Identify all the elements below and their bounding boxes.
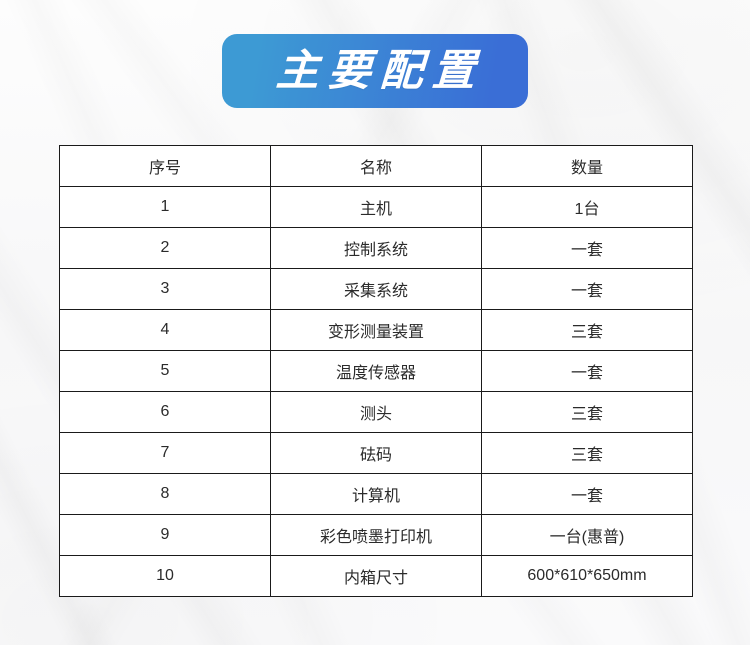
cell-index: 10 xyxy=(60,556,271,597)
cell-index: 2 xyxy=(60,228,271,269)
cell-quantity: 三套 xyxy=(482,310,693,351)
cell-name: 内箱尺寸 xyxy=(271,556,482,597)
table-row: 4 变形测量装置 三套 xyxy=(60,310,693,351)
table-header-row: 序号 名称 数量 xyxy=(60,146,693,187)
table-row: 5 温度传感器 一套 xyxy=(60,351,693,392)
table-header: 序号 名称 数量 xyxy=(60,146,693,187)
table-row: 9 彩色喷墨打印机 一台(惠普) xyxy=(60,515,693,556)
cell-index: 7 xyxy=(60,433,271,474)
table-row: 3 采集系统 一套 xyxy=(60,269,693,310)
section-title-banner: 主要配置 xyxy=(222,34,528,108)
table-body: 1 主机 1台 2 控制系统 一套 3 采集系统 一套 4 变形测量装置 三套 … xyxy=(60,187,693,597)
table-row: 2 控制系统 一套 xyxy=(60,228,693,269)
cell-index: 8 xyxy=(60,474,271,515)
cell-quantity: 三套 xyxy=(482,392,693,433)
cell-quantity: 一台(惠普) xyxy=(482,515,693,556)
cell-name: 控制系统 xyxy=(271,228,482,269)
cell-name: 彩色喷墨打印机 xyxy=(271,515,482,556)
cell-quantity: 一套 xyxy=(482,474,693,515)
table-row: 7 砝码 三套 xyxy=(60,433,693,474)
table-row: 10 内箱尺寸 600*610*650mm xyxy=(60,556,693,597)
cell-index: 1 xyxy=(60,187,271,228)
cell-quantity: 一套 xyxy=(482,228,693,269)
cell-quantity: 三套 xyxy=(482,433,693,474)
table-row: 6 测头 三套 xyxy=(60,392,693,433)
column-header-quantity: 数量 xyxy=(482,146,693,187)
cell-name: 测头 xyxy=(271,392,482,433)
cell-quantity: 600*610*650mm xyxy=(482,556,693,597)
cell-name: 计算机 xyxy=(271,474,482,515)
cell-name: 变形测量装置 xyxy=(271,310,482,351)
column-header-index: 序号 xyxy=(60,146,271,187)
specification-table-container: 序号 名称 数量 1 主机 1台 2 控制系统 一套 3 采集系统 一套 4 xyxy=(59,145,692,597)
cell-quantity: 一套 xyxy=(482,351,693,392)
table-row: 8 计算机 一套 xyxy=(60,474,693,515)
specification-table: 序号 名称 数量 1 主机 1台 2 控制系统 一套 3 采集系统 一套 4 xyxy=(59,145,693,597)
cell-name: 温度传感器 xyxy=(271,351,482,392)
table-row: 1 主机 1台 xyxy=(60,187,693,228)
cell-index: 3 xyxy=(60,269,271,310)
column-header-name: 名称 xyxy=(271,146,482,187)
cell-name: 主机 xyxy=(271,187,482,228)
cell-index: 5 xyxy=(60,351,271,392)
cell-name: 采集系统 xyxy=(271,269,482,310)
cell-name: 砝码 xyxy=(271,433,482,474)
cell-quantity: 一套 xyxy=(482,269,693,310)
cell-index: 6 xyxy=(60,392,271,433)
cell-index: 9 xyxy=(60,515,271,556)
cell-index: 4 xyxy=(60,310,271,351)
section-title-text: 主要配置 xyxy=(265,50,484,93)
cell-quantity: 1台 xyxy=(482,187,693,228)
